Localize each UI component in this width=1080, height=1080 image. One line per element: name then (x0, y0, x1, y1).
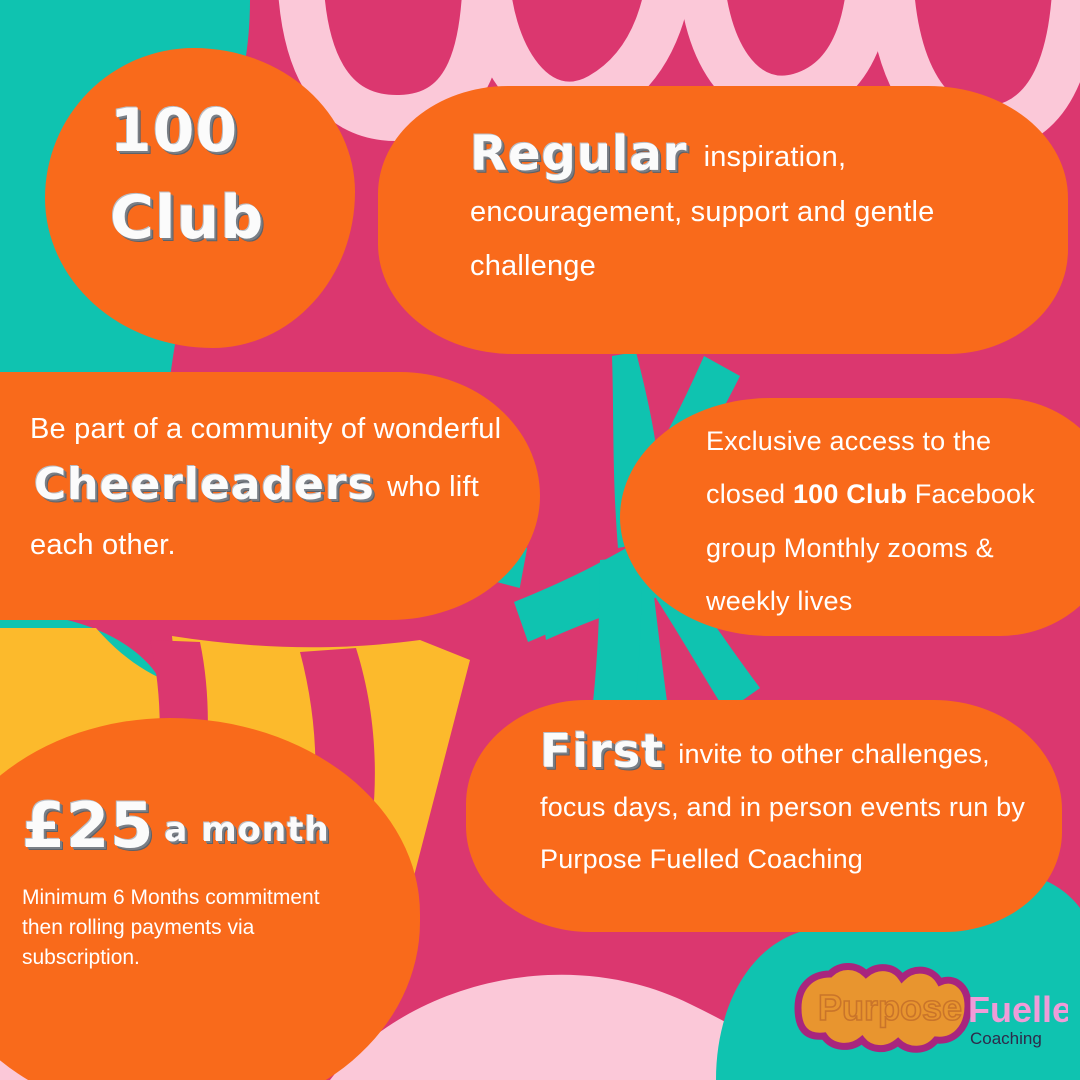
benefit-first: Firstinvite to other challenges, focus d… (540, 728, 1040, 886)
price-block: £25a month Minimum 6 Months commitment t… (22, 795, 392, 972)
price-headline: £25a month (22, 795, 392, 857)
logo-word-purpose: Purpose (818, 987, 962, 1028)
title-line-2: Club (110, 175, 350, 262)
benefit-first-highlight: First (540, 724, 664, 778)
benefit-community: Be part of a community of wonderful Chee… (30, 400, 510, 574)
benefit-exclusive-highlight: 100 Club (793, 479, 907, 509)
poster-title: 100 Club (110, 88, 350, 262)
poster-canvas: 100 Club Regularinspiration, encourageme… (0, 0, 1080, 1080)
benefit-community-highlight: Cheerleaders (34, 459, 375, 510)
logo-word-coaching: Coaching (970, 1029, 1042, 1048)
logo-word-fuelled: Fuelled (968, 989, 1068, 1030)
price-terms-note: Minimum 6 Months commitment then rolling… (22, 883, 352, 972)
price-amount: £25 (22, 789, 154, 862)
benefit-regular: Regularinspiration, encouragement, suppo… (470, 130, 1050, 294)
title-line-1: 100 (110, 88, 350, 175)
benefit-regular-highlight: Regular (470, 126, 688, 182)
benefit-exclusive: Exclusive access to the closed 100 Club … (706, 415, 1071, 629)
benefit-community-lead: Be part of a community of wonderful (30, 413, 501, 445)
purpose-fuelled-coaching-logo: Purpose Fuelled Coaching (772, 962, 1068, 1054)
price-period: a month (164, 810, 329, 850)
